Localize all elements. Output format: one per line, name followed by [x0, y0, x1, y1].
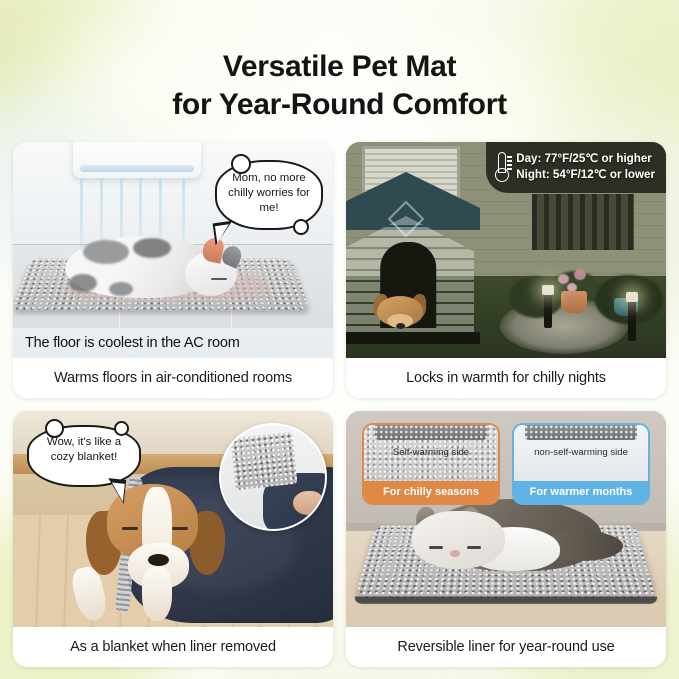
- card-caption-ac-room: Warms floors in air-conditioned rooms: [13, 358, 333, 398]
- garden-light: [628, 301, 636, 341]
- card-caption-doghouse: Locks in warmth for chilly nights: [346, 358, 666, 398]
- headline-line-2: for Year-Round Comfort: [0, 86, 679, 124]
- swatch-label-non-self-warming: non-self-warming side: [534, 447, 628, 459]
- speech-bubble-dog: Wow, it's like a cozy blanket!: [27, 425, 141, 487]
- speech-bubble-cat: Mom, no more chilly worries for me!: [215, 160, 323, 230]
- speech-bubble-dog-text: Wow, it's like a cozy blanket!: [47, 436, 121, 463]
- swatch-card-self-warming: Self-warming side For chilly seasons: [362, 423, 500, 505]
- liner-detail-inset: [219, 423, 327, 531]
- golden-retriever: [375, 286, 433, 326]
- photo-ac-room: Mom, no more chilly worries for me! The …: [13, 142, 333, 358]
- garden-light: [544, 294, 552, 328]
- season-bar-chilly: For chilly seasons: [364, 481, 498, 503]
- dog-house: [346, 172, 480, 344]
- swatch-image-self-warming: Self-warming side: [364, 425, 498, 481]
- feature-card-ac-room: Mom, no more chilly worries for me! The …: [13, 142, 333, 398]
- beagle-dog: [83, 484, 230, 618]
- speech-bubble-cat-text: Mom, no more chilly worries for me!: [228, 172, 310, 214]
- swatch-card-non-self-warming: non-self-warming side For warmer months: [512, 423, 650, 505]
- temperature-day-text: Day: 77°F/25℃ or higher: [516, 151, 655, 167]
- page-title: Versatile Pet Mat for Year-Round Comfort: [0, 48, 679, 124]
- photo-doghouse-night: Day: 77°F/25℃ or higher Night: 54°F/12℃ …: [346, 142, 666, 358]
- air-conditioner-icon: [73, 142, 201, 178]
- thermometer-icon: [495, 152, 509, 182]
- temperature-night-text: Night: 54°F/12℃ or lower: [516, 167, 655, 183]
- headline-line-1: Versatile Pet Mat: [223, 50, 456, 83]
- feature-grid: Mom, no more chilly worries for me! The …: [13, 142, 666, 667]
- temperature-badge: Day: 77°F/25℃ or higher Night: 54°F/12℃ …: [486, 142, 666, 193]
- photo-reversible-liner: Self-warming side For chilly seasons non…: [346, 411, 666, 627]
- garden-plants: [506, 233, 660, 328]
- swatch-label-self-warming: Self-warming side: [393, 447, 469, 459]
- card-caption-reversible: Reversible liner for year-round use: [346, 627, 666, 667]
- feature-card-blanket: Wow, it's like a cozy blanket! As a blan…: [13, 411, 333, 667]
- overlay-caption-ac-room: The floor is coolest in the AC room: [13, 328, 333, 358]
- reversible-swatches: Self-warming side For chilly seasons non…: [362, 423, 650, 505]
- overlay-caption-text: The floor is coolest in the AC room: [25, 335, 240, 351]
- swatch-image-non-self-warming: non-self-warming side: [514, 425, 648, 481]
- feature-card-doghouse: Day: 77°F/25℃ or higher Night: 54°F/12℃ …: [346, 142, 666, 398]
- season-bar-warm: For warmer months: [514, 481, 648, 503]
- card-caption-blanket: As a blanket when liner removed: [13, 627, 333, 667]
- photo-blanket-mode: Wow, it's like a cozy blanket!: [13, 411, 333, 627]
- feature-card-reversible: Self-warming side For chilly seasons non…: [346, 411, 666, 667]
